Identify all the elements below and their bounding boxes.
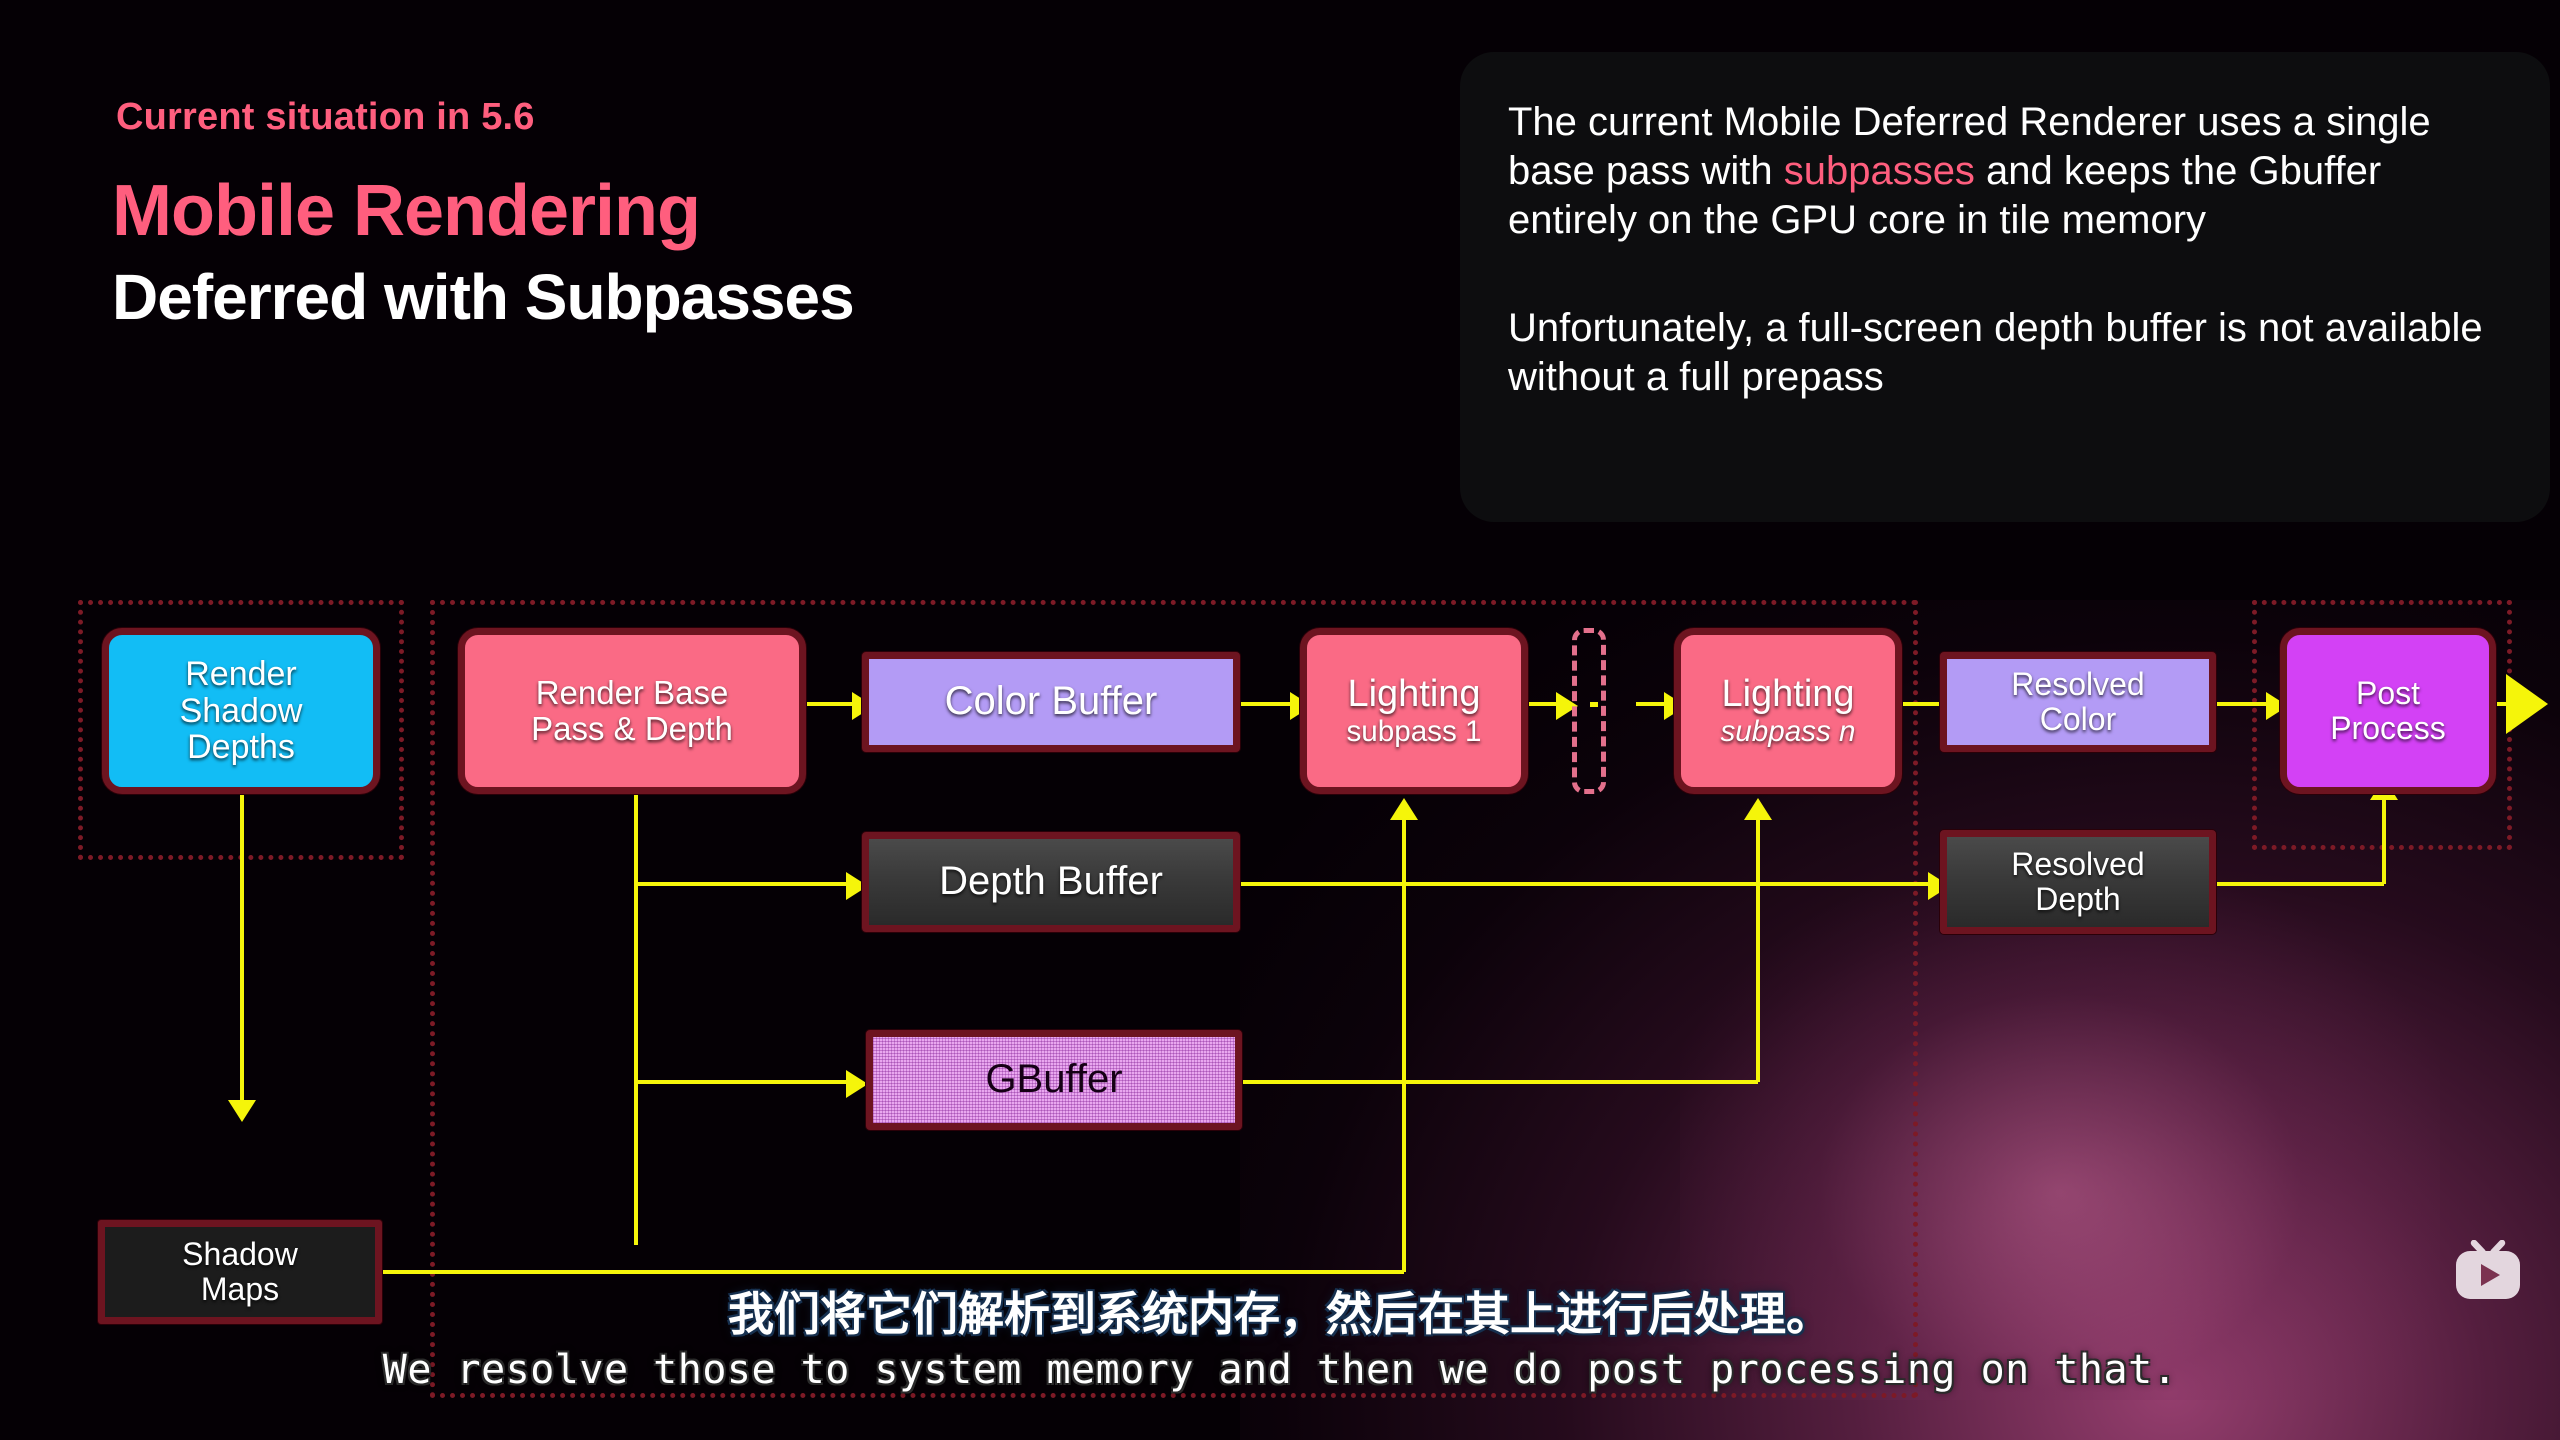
wire-depth-to-resolved-depth <box>1240 882 1940 886</box>
slide-eyebrow: Current situation in 5.6 <box>116 96 535 139</box>
arrow-depth-up-lighting1 <box>1390 798 1418 820</box>
subtitle-chinese: 我们将它们解析到系统内存，然后在其上进行后处理。 <box>0 1278 2560 1344</box>
wire-base-to-depth <box>634 882 852 886</box>
arrow-shadow-to-maps <box>228 1100 256 1122</box>
wire-gbuffer-up <box>1756 882 1760 1082</box>
tv-play-icon <box>2452 1240 2524 1302</box>
wire-shadow-to-maps <box>240 795 244 1105</box>
node-lighting-subpass-1-label: Lighting subpass 1 <box>1346 674 1481 747</box>
node-lighting-subpass-n-label: Lighting subpass n <box>1720 674 1855 747</box>
node-render-shadow-depths[interactable]: Render Shadow Depths <box>102 628 380 794</box>
arrow-post-output <box>2506 674 2548 734</box>
subtitle-english: We resolve those to system memory and th… <box>0 1347 2560 1393</box>
wire-gbuffer-right <box>1242 1080 1758 1084</box>
node-render-shadow-depths-label: Render Shadow Depths <box>180 656 303 766</box>
wire-resolved-depth-up <box>2382 798 2386 884</box>
slide-title-line2: Deferred with Subpasses <box>112 265 854 329</box>
callout-highlight-subpasses: subpasses <box>1784 149 1975 193</box>
wire-depth-up-lighting1 <box>1402 818 1406 884</box>
node-color-buffer[interactable]: Color Buffer <box>862 652 1240 752</box>
callout-paragraph-1: The current Mobile Deferred Renderer use… <box>1508 98 2502 244</box>
arrow-base-to-gbuffer <box>846 1070 868 1098</box>
node-render-base-pass[interactable]: Render Base Pass & Depth <box>458 628 806 794</box>
slide-canvas: Current situation in 5.6 Mobile Renderin… <box>0 0 2560 1440</box>
callout-paragraph-2: Unfortunately, a full-screen depth buffe… <box>1508 304 2502 402</box>
wire-base-down <box>634 795 638 1245</box>
node-resolved-color[interactable]: Resolved Color <box>1940 652 2216 752</box>
node-gbuffer[interactable]: GBuffer <box>866 1030 1242 1130</box>
node-render-base-pass-label: Render Base Pass & Depth <box>531 675 733 746</box>
node-lighting-subpass-ellipsis <box>1572 628 1606 794</box>
node-post-process-label: Post Process <box>2330 676 2446 745</box>
node-resolved-color-label: Resolved Color <box>2011 667 2144 736</box>
node-gbuffer-label: GBuffer <box>985 1058 1122 1101</box>
callout-panel: The current Mobile Deferred Renderer use… <box>1460 52 2550 522</box>
node-post-process[interactable]: Post Process <box>2280 628 2496 794</box>
node-lighting-subpass-n[interactable]: Lighting subpass n <box>1674 628 1902 794</box>
arrow-depth-up-lightingn <box>1744 798 1772 820</box>
wire-resolved-depth-right <box>2216 882 2384 886</box>
node-depth-buffer[interactable]: Depth Buffer <box>862 832 1240 932</box>
node-resolved-depth-label: Resolved Depth <box>2011 847 2144 916</box>
wire-depth-up-lightingn <box>1756 818 1760 884</box>
slide-title-line1: Mobile Rendering <box>112 175 700 247</box>
node-resolved-depth[interactable]: Resolved Depth <box>1940 830 2216 934</box>
node-color-buffer-label: Color Buffer <box>945 680 1158 723</box>
wire-shadowmaps-right <box>378 1270 1404 1274</box>
wire-shadowmaps-up <box>1402 882 1406 1272</box>
node-depth-buffer-label: Depth Buffer <box>939 860 1163 903</box>
node-lighting-subpass-1[interactable]: Lighting subpass 1 <box>1300 628 1528 794</box>
wire-base-to-gbuffer <box>634 1080 852 1084</box>
